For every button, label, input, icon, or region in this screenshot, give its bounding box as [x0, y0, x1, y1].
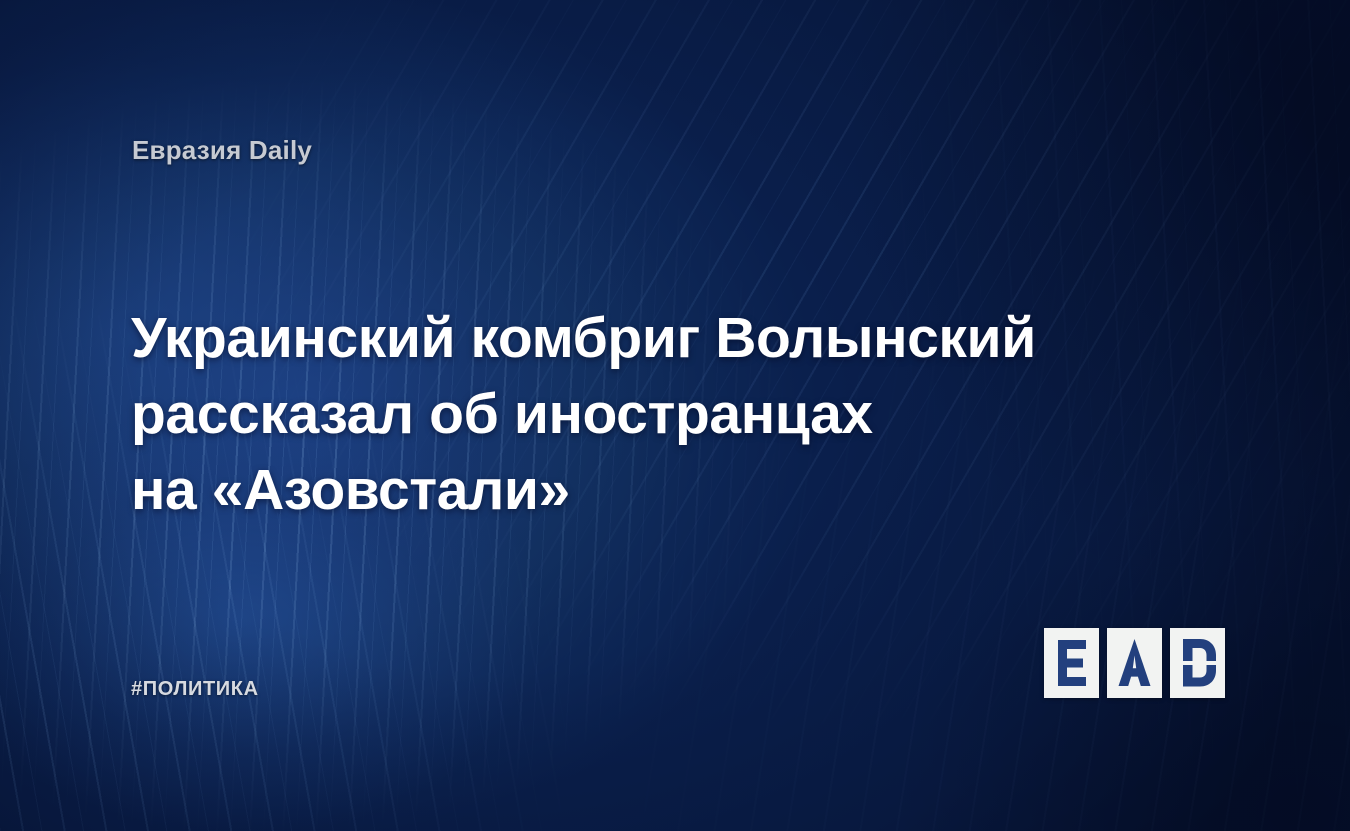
brand-wordmark: Евразия Daily — [132, 135, 312, 166]
logo-tile-d — [1170, 628, 1225, 698]
letter-d-icon — [1170, 628, 1225, 698]
headline-line-1: Украинский комбриг Волынский — [131, 300, 1081, 376]
headline-line-2: рассказал об иностранцах — [131, 376, 1081, 452]
letter-e-icon — [1044, 628, 1099, 698]
headline-line-3: на «Азовстали» — [131, 452, 1081, 528]
card-content: Евразия Daily Украинский комбриг Волынск… — [0, 0, 1350, 831]
logo-tile-e — [1044, 628, 1099, 698]
logo-tile-a — [1107, 628, 1162, 698]
eadaily-logo[interactable] — [1044, 628, 1225, 698]
page-title: Украинский комбриг Волынский рассказал о… — [131, 300, 1081, 528]
category-hashtag[interactable]: #ПОЛИТИКА — [131, 678, 259, 701]
letter-a-icon — [1107, 628, 1162, 698]
news-card: Евразия Daily Украинский комбриг Волынск… — [0, 0, 1350, 831]
